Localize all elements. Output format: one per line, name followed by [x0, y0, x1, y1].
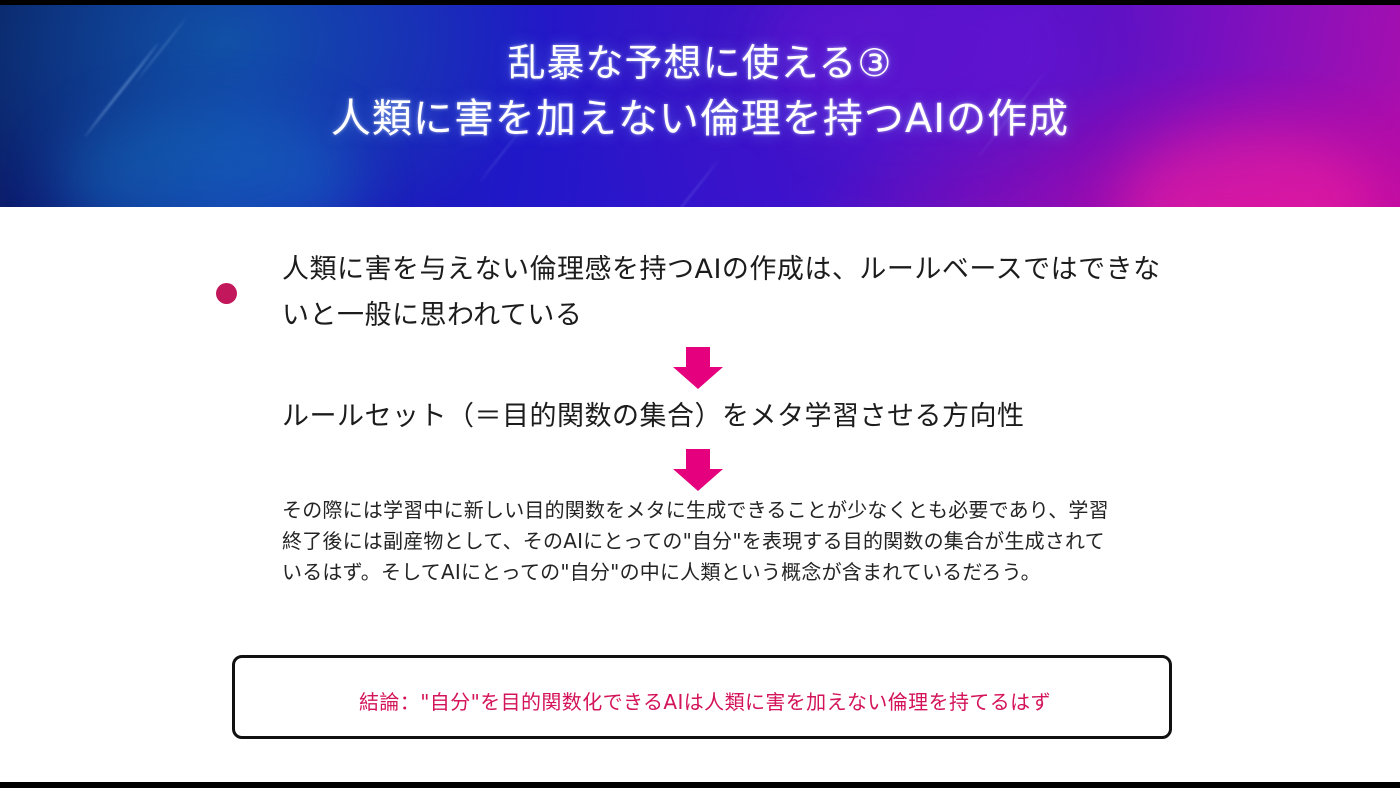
slide-title: 乱暴な予想に使える③ 人類に害を加えない倫理を持つAIの作成 [0, 36, 1400, 148]
header-light-streak [663, 159, 720, 207]
down-arrow-icon [670, 345, 726, 391]
presentation-slide: 乱暴な予想に使える③ 人類に害を加えない倫理を持つAIの作成 人類に害を与えない… [0, 0, 1400, 788]
bullet-dot-icon [216, 283, 237, 304]
slide-title-line-2: 人類に害を加えない倫理を持つAIの作成 [0, 90, 1400, 148]
conclusion-text: 結論："自分"を目的関数化できるAIは人類に害を加えない倫理を持てるはず [235, 658, 1175, 742]
slide-title-line-1: 乱暴な予想に使える③ [0, 36, 1400, 90]
slide-header-banner: 乱暴な予想に使える③ 人類に害を加えない倫理を持つAIの作成 [0, 0, 1400, 207]
letterbox-bar-top [0, 0, 1400, 5]
slide-body: 人類に害を与えない倫理感を持つAIの作成は、ルールベースではできないと一般に思わ… [0, 207, 1400, 788]
letterbox-bar-bottom [0, 782, 1400, 788]
down-arrow-icon [670, 447, 726, 493]
middle-statement: ルールセット（＝目的関数の集合）をメタ学習させる方向性 [282, 395, 1342, 439]
conclusion-box: 結論："自分"を目的関数化できるAIは人類に害を加えない倫理を持てるはず [232, 655, 1172, 739]
bullet-item-text: 人類に害を与えない倫理感を持つAIの作成は、ルールベースではできないと一般に思わ… [282, 247, 1182, 339]
explanation-paragraph: その際には学習中に新しい目的関数をメタに生成できることが少なくとも必要であり、学… [282, 495, 1112, 588]
